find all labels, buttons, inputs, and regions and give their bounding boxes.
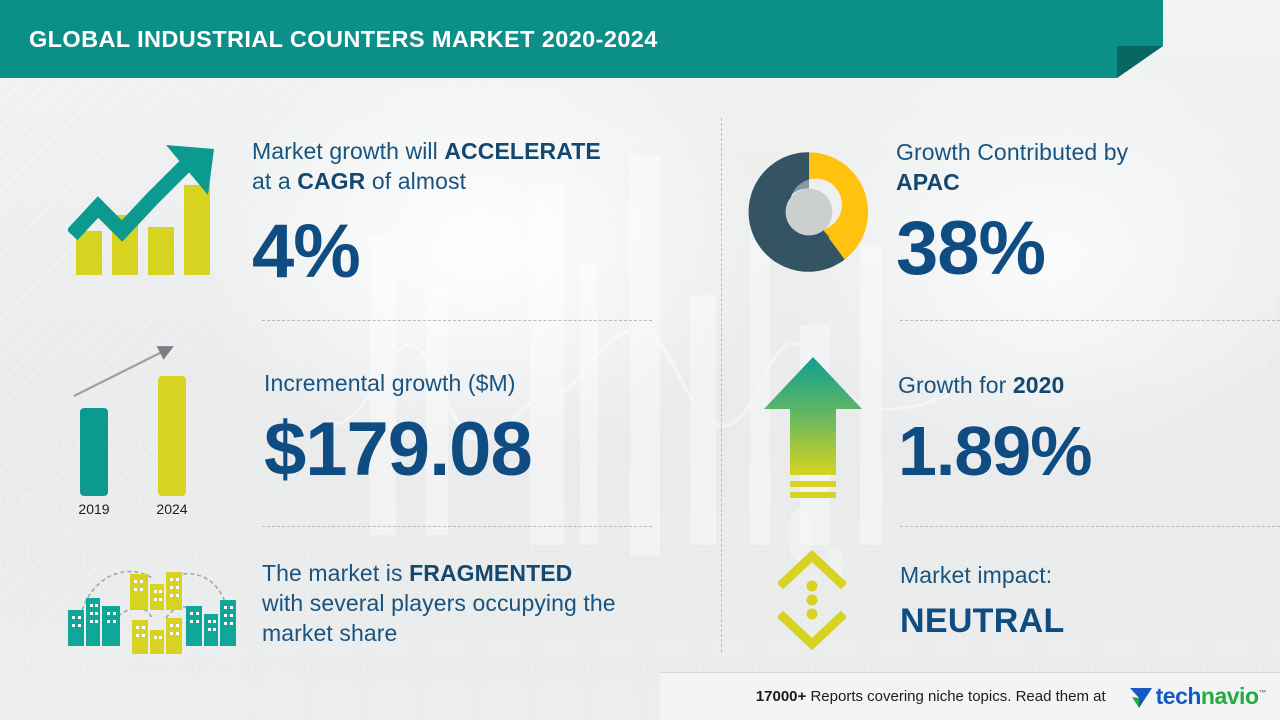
cagr-line2-pre: at a (252, 168, 297, 194)
cagr-line1-pre: Market growth will (252, 138, 444, 164)
right-divider-2 (900, 526, 1280, 527)
growth-2020-block: Growth for 2020 1.89% (722, 333, 1280, 523)
footer-text: 17000+ Reports covering niche topics. Re… (756, 688, 1106, 705)
logo-trademark-symbol: ™ (1259, 688, 1267, 697)
fragmentation-block: The market is FRAGMENTED with several pl… (0, 538, 722, 668)
growth-2020-text-group: Growth for 2020 1.89% (898, 370, 1091, 486)
apac-region: APAC (896, 169, 960, 195)
incremental-growth-block: 2019 2024 Incremental growth ($M) $179.0… (0, 333, 722, 523)
market-impact-block: Market impact: NEUTRAL (722, 540, 1280, 660)
incremental-value: $179.08 (264, 412, 532, 488)
apac-text-group: Growth Contributed by APAC 38% (896, 137, 1128, 287)
growth-2020-value: 1.89% (898, 416, 1091, 486)
two-bar-growth-chart-icon: 2019 2024 (62, 338, 232, 518)
fragmentation-line1-pre: The market is (262, 560, 409, 586)
right-divider-1 (900, 320, 1280, 321)
header-fold-corner (1117, 46, 1163, 78)
logo-text-navio: navio (1201, 683, 1259, 709)
infographic-page: GLOBAL INDUSTRIAL COUNTERS MARKET 2020-2… (0, 0, 1280, 720)
header-banner: GLOBAL INDUSTRIAL COUNTERS MARKET 2020-2… (0, 0, 1163, 78)
market-impact-value: NEUTRAL (900, 602, 1065, 641)
growth-2020-label: Growth for 2020 (898, 370, 1091, 400)
apac-value: 38% (896, 211, 1128, 287)
fragmentation-line2: with several players occupying the (262, 588, 616, 618)
cagr-value: 4% (252, 214, 601, 290)
fragmentation-line1-bold: FRAGMENTED (409, 560, 572, 586)
cagr-line1: Market growth will ACCELERATE (252, 136, 601, 166)
left-divider-2 (262, 526, 652, 527)
growth-2020-year: 2020 (1013, 372, 1065, 398)
incremental-text-group: Incremental growth ($M) $179.08 (264, 368, 532, 488)
right-column: Growth Contributed by APAC 38% (722, 88, 1280, 648)
growth-arrow-bar-chart-icon (68, 143, 228, 283)
cagr-line2-post: of almost (365, 168, 466, 194)
technavio-logo[interactable]: technavio™ (1128, 683, 1266, 710)
footer-bar: 17000+ Reports covering niche topics. Re… (660, 672, 1280, 720)
apac-block: Growth Contributed by APAC 38% (722, 112, 1280, 312)
fragmentation-text-group: The market is FRAGMENTED with several pl… (262, 558, 616, 648)
incremental-label: Incremental growth ($M) (264, 368, 532, 398)
left-divider-1 (262, 320, 652, 321)
growth-2020-label-pre: Growth for (898, 372, 1013, 398)
donut-chart-icon (744, 147, 874, 277)
cagr-text-group: Market growth will ACCELERATE at a CAGR … (252, 136, 601, 290)
apac-line1-bold-row: APAC (896, 167, 1128, 197)
up-arrow-gradient-icon (760, 353, 866, 503)
page-title: GLOBAL INDUSTRIAL COUNTERS MARKET 2020-2… (0, 26, 658, 53)
footer-tagline: Reports covering niche topics. Read them… (810, 688, 1105, 705)
apac-line1: Growth Contributed by (896, 137, 1128, 167)
fragmentation-line1: The market is FRAGMENTED (262, 558, 616, 588)
connected-buildings-network-icon (60, 548, 240, 658)
fragmentation-line3: market share (262, 618, 616, 648)
cagr-line1-bold: ACCELERATE (444, 138, 600, 164)
bar-label-2019: 2019 (78, 501, 109, 517)
footer-report-count: 17000+ (756, 688, 806, 705)
up-down-chevron-dots-icon (770, 550, 854, 650)
market-impact-text-group: Market impact: NEUTRAL (900, 560, 1065, 641)
market-impact-label: Market impact: (900, 560, 1065, 590)
technavio-mark-icon (1128, 684, 1154, 710)
bar-label-2024: 2024 (156, 501, 187, 517)
cagr-line2-bold: CAGR (297, 168, 365, 194)
technavio-wordmark: technavio™ (1156, 683, 1266, 710)
cagr-line2: at a CAGR of almost (252, 166, 601, 196)
logo-text-tech: tech (1156, 683, 1201, 709)
cagr-block: Market growth will ACCELERATE at a CAGR … (0, 108, 722, 318)
left-column: Market growth will ACCELERATE at a CAGR … (0, 88, 722, 648)
